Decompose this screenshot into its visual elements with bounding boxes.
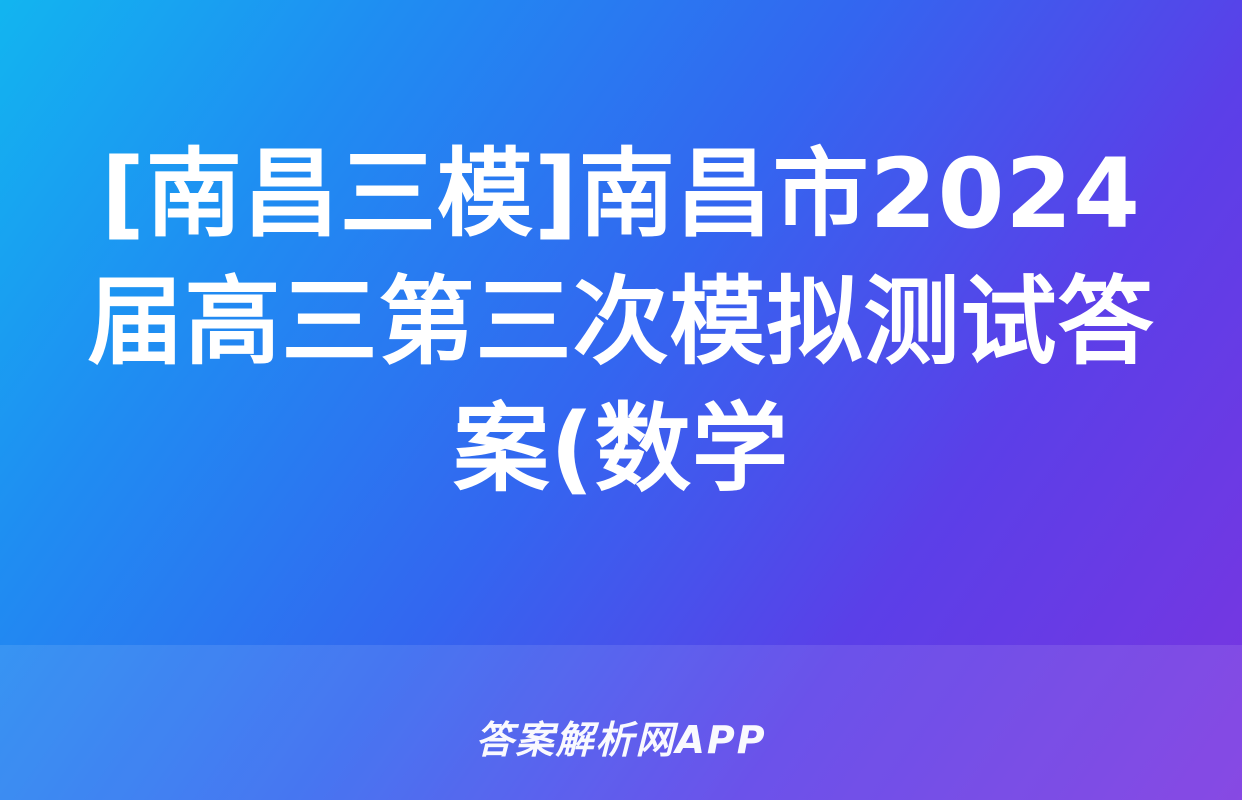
app-watermark: 答案解析网APP [475,709,766,764]
page-title: [南昌三模]南昌市2024届高三第三次模拟测试答案(数学 [76,131,1166,514]
watermark-container: 答案解析网APP [0,709,1242,764]
title-container: [南昌三模]南昌市2024届高三第三次模拟测试答案(数学 [0,0,1242,645]
poster-background: [南昌三模]南昌市2024届高三第三次模拟测试答案(数学 答案解析网APP [0,0,1242,800]
